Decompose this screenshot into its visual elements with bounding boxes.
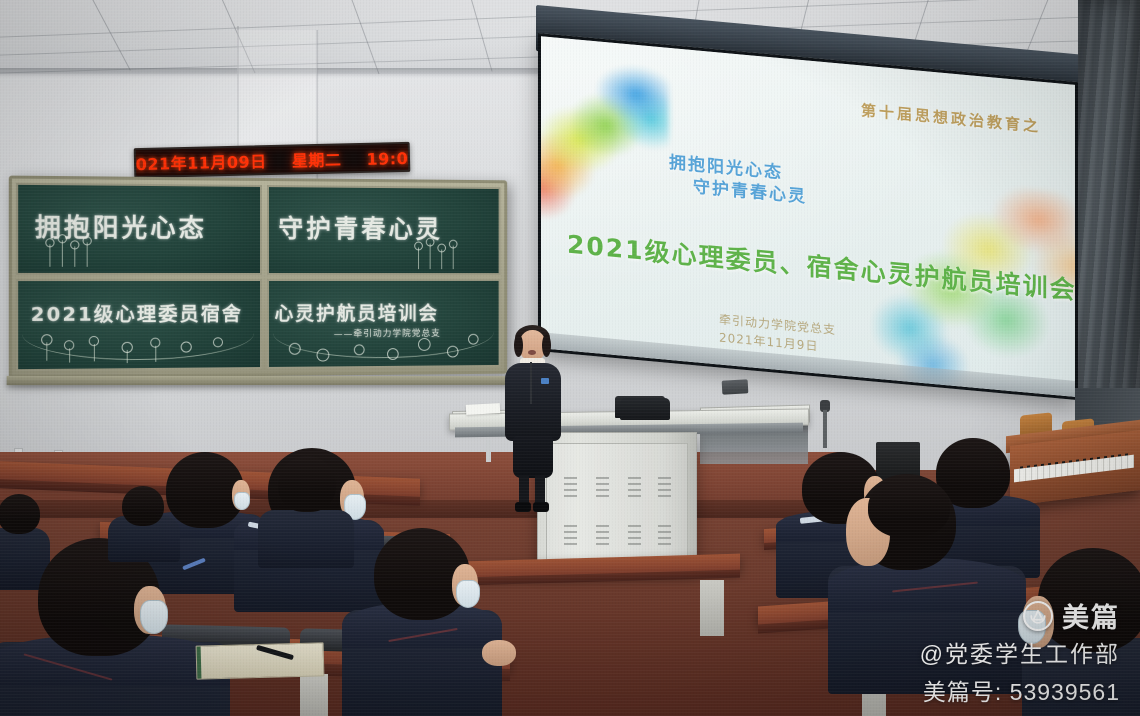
led-time: 19:03 [366, 149, 410, 169]
floor-power-post [486, 440, 491, 462]
led-weekday: 星期二 [292, 150, 342, 170]
led-clock-text: 2021年11月09日 星期二 19:03 [134, 145, 411, 176]
face-mask [140, 600, 168, 634]
mic-stand-pole [823, 410, 827, 448]
watermark-brand-row: 美篇 [1023, 596, 1120, 635]
student-mid-center [254, 452, 350, 552]
screen-surface: 第十届思想政治教育之 拥抱阳光心态 守护青春心灵 2021级心理委员、宿舍心灵护… [538, 33, 1078, 400]
student-center-far [112, 488, 172, 548]
slide-banner-text: 第十届思想政治教育之 [861, 99, 1041, 136]
presenter-speaker [497, 326, 569, 516]
wall-mounted-box [722, 379, 749, 394]
student-hand [482, 640, 516, 666]
presenter-hair-left [514, 334, 523, 357]
presenter-jacket [505, 363, 561, 441]
chalk-text-bottom-right: 心灵护航员培训会 [274, 299, 438, 326]
face-mask [456, 580, 480, 608]
led-clock-display: 2021年11月09日 星期二 19:03 [134, 142, 411, 178]
slide-subtitle-line2: 守护青春心灵 [693, 177, 807, 210]
presenter-badge [541, 378, 549, 384]
podium-papers [466, 403, 500, 415]
watermark-id-value: 53939561 [1010, 679, 1120, 705]
watercolor-splash-top-left [538, 56, 669, 240]
slide-subtitle: 拥抱阳光心态 守护青春心灵 [669, 152, 807, 209]
blackboard-chalk-tray [7, 376, 509, 385]
face-mask [234, 492, 250, 510]
blackboard-panel-top-right: 守护青春心灵 [266, 185, 500, 275]
watermark-id: 美篇号: 53939561 [923, 673, 1120, 707]
presenter-shoe-right [533, 502, 549, 512]
blackboard-panel-bottom-left: 2021级心理委员宿舍 [16, 279, 261, 371]
slide-content: 第十届思想政治教育之 拥抱阳光心态 守护青春心灵 2021级心理委员、宿舍心灵护… [541, 36, 1075, 397]
presenter-shoe-left [515, 502, 531, 512]
chalk-text-top-right: 守护青春心灵 [278, 209, 442, 245]
watermark-id-label: 美篇号: [923, 679, 1002, 705]
student-center-writing [356, 528, 496, 714]
presenter-skirt [513, 436, 553, 478]
blackboard-row-bottom: 2021级心理委员宿舍 心灵护航员培训会 ——牵引动力学院党总支 [16, 279, 500, 371]
blackboard: 拥抱阳光心态 守护青春心灵 [9, 176, 507, 379]
presenter-hair-right [542, 334, 551, 357]
desk-leg-front [300, 674, 328, 716]
desk-leg-far-center [700, 580, 724, 636]
projection-screen: 第十届思想政治教育之 拥抱阳光心态 守护青春心灵 2021级心理委员、宿舍心灵护… [536, 5, 1082, 355]
meipian-logo-icon [1023, 601, 1053, 631]
presenter-chair [620, 398, 670, 420]
presenter-microphone [530, 362, 532, 404]
watermark-brand-text: 美篇 [1062, 596, 1120, 635]
chalk-text-bottom-left: 2021级心理委员宿舍 [31, 299, 243, 327]
blackboard-panel-top-left: 拥抱阳光心态 [16, 183, 261, 275]
blackboard-row-top: 拥抱阳光心态 守护青春心灵 [16, 183, 500, 275]
blackboard-panel-bottom-right: 心灵护航员培训会 ——牵引动力学院党总支 [266, 279, 500, 369]
led-date: 2021年11月09日 [134, 152, 267, 174]
photo-scene: 2021年11月09日 星期二 19:03 拥抱阳光心态 守护青春心灵 [0, 0, 1140, 716]
presenter-mouth [528, 350, 536, 355]
watermark-handle: @党委学生工作部 [920, 635, 1120, 669]
